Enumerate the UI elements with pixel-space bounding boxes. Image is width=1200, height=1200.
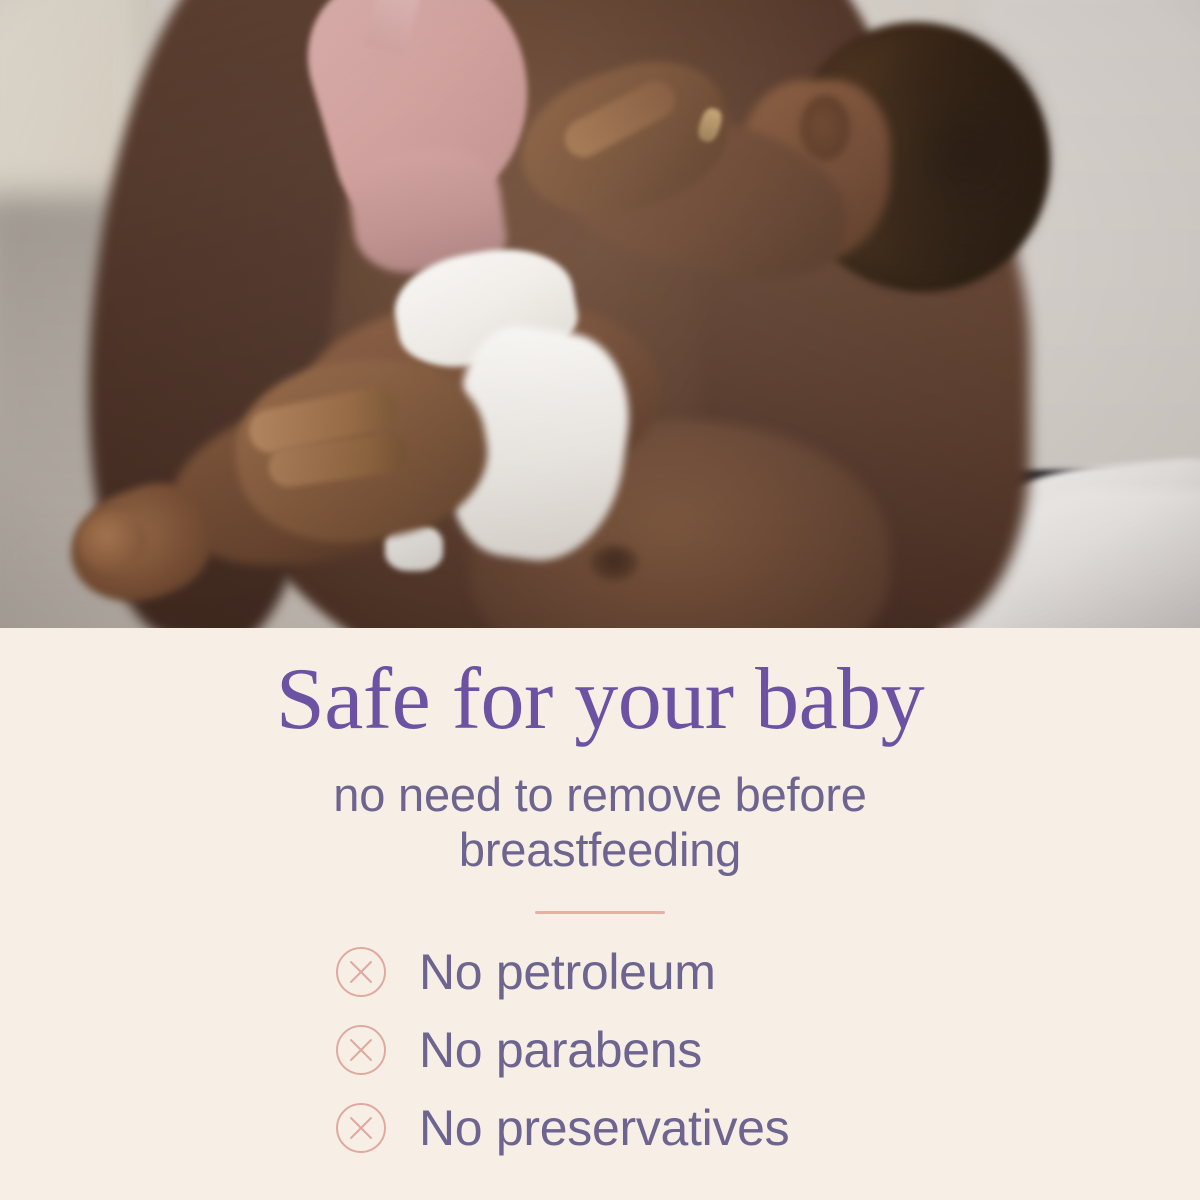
product-ad-card: Safe for your baby no need to remove bef… xyxy=(0,0,1200,1200)
subheading: no need to remove before breastfeeding xyxy=(150,768,1050,878)
headline: Safe for your baby xyxy=(0,656,1200,744)
list-item: No preservatives xyxy=(335,1089,1035,1167)
hero-photo xyxy=(0,0,1200,628)
subheading-line-1: no need to remove before xyxy=(150,768,1050,823)
circle-x-icon xyxy=(335,1024,387,1076)
list-item: No parabens xyxy=(335,1011,1035,1089)
white-towel-fold xyxy=(1010,490,1200,628)
feature-label: No parabens xyxy=(419,1025,702,1075)
feature-label: No petroleum xyxy=(419,947,716,997)
message-panel: Safe for your baby no need to remove bef… xyxy=(0,628,1200,1200)
circle-x-icon xyxy=(335,1102,387,1154)
list-item: No petroleum xyxy=(335,933,1035,1011)
divider-rule xyxy=(535,911,665,914)
baby-ear xyxy=(800,95,850,161)
feature-label: No preservatives xyxy=(419,1103,789,1153)
baby-toes xyxy=(78,512,148,572)
subheading-line-2: breastfeeding xyxy=(150,823,1050,878)
feature-list: No petroleum No parabens xyxy=(335,933,1035,1167)
circle-x-icon xyxy=(335,946,387,998)
navel xyxy=(590,545,638,581)
